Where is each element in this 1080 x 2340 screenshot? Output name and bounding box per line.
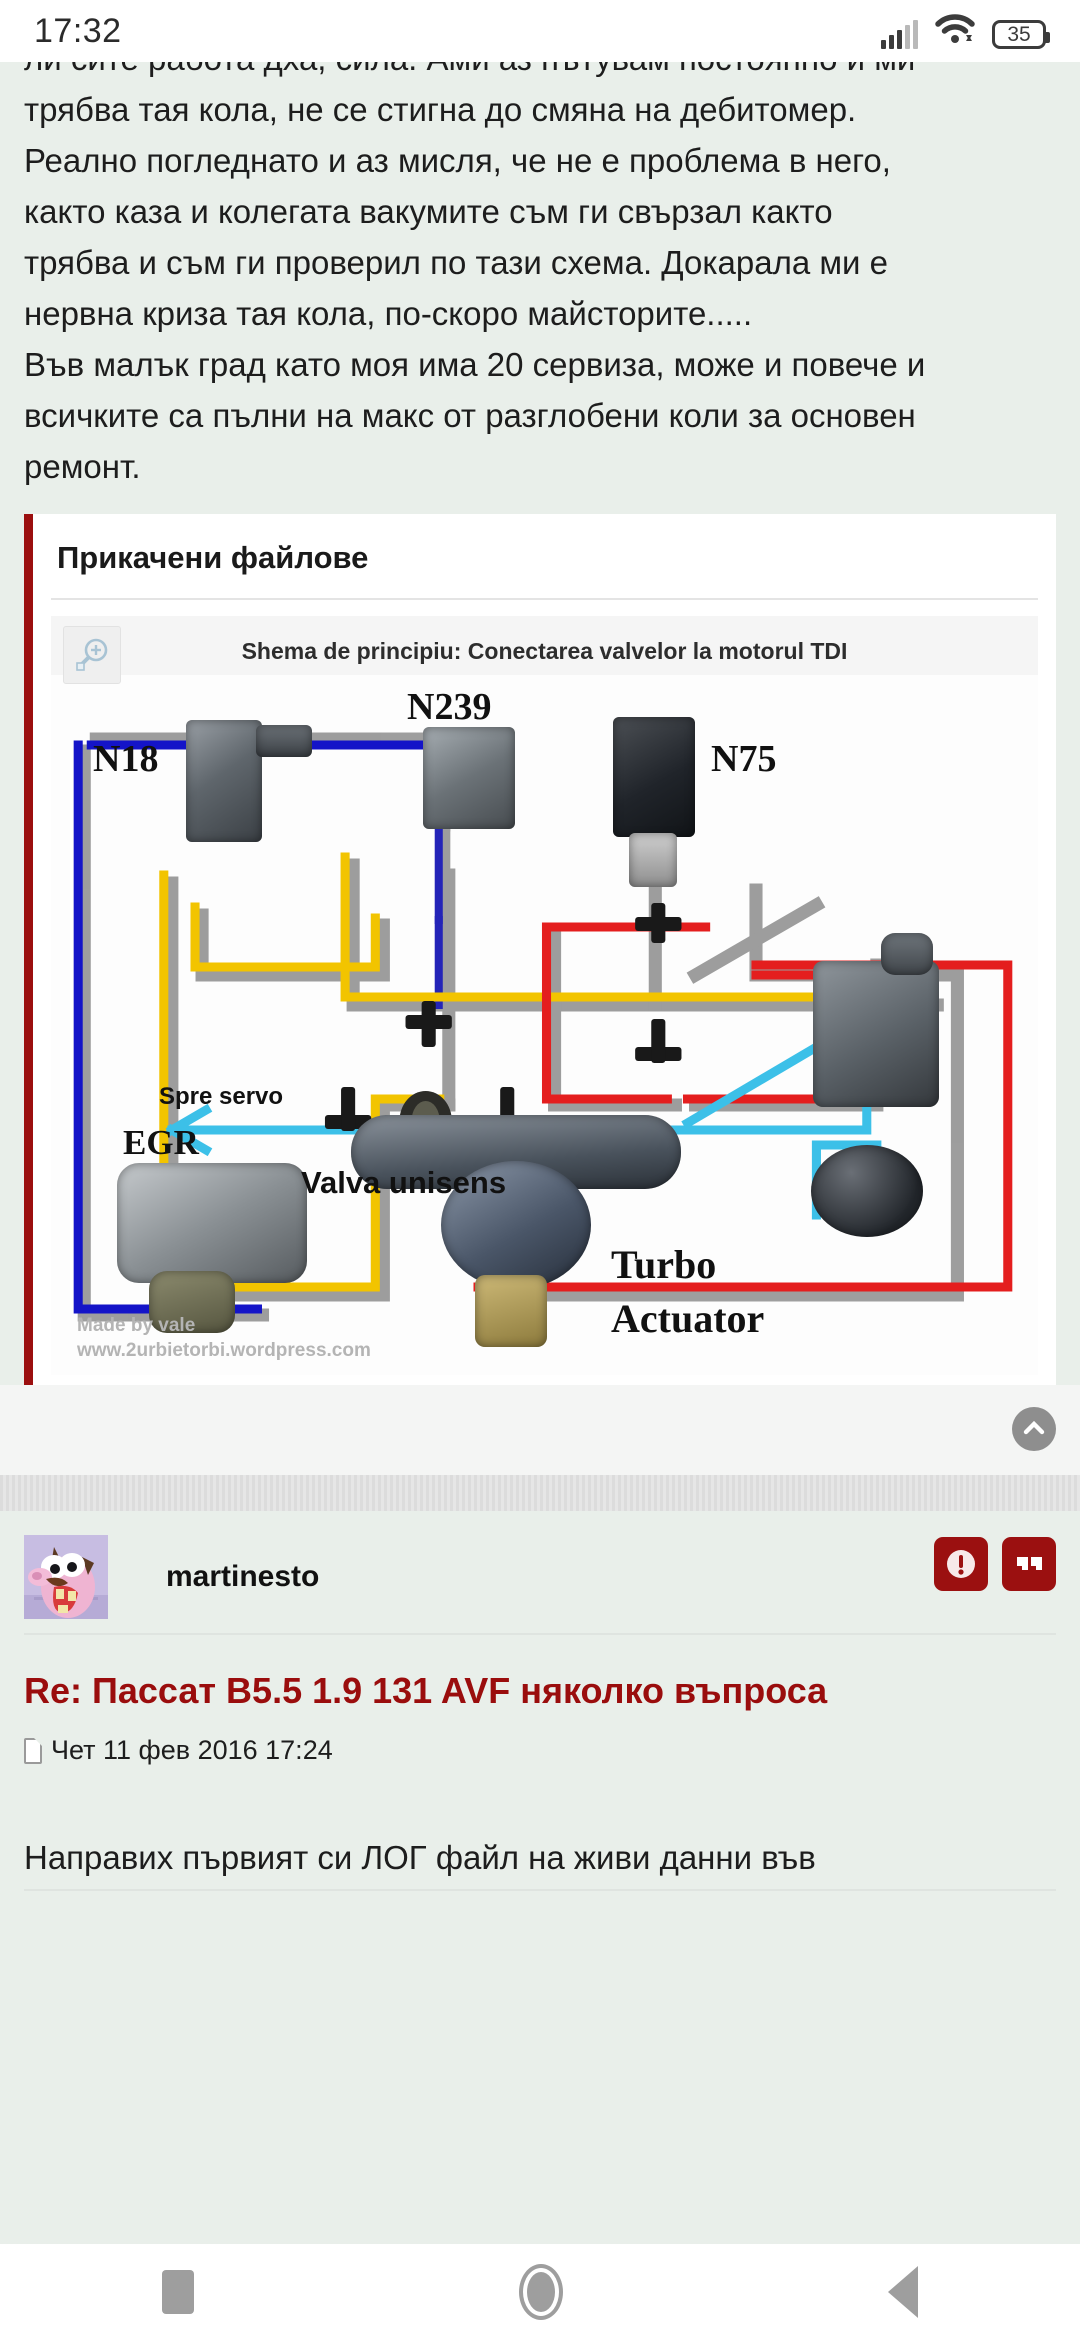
post-gap (0, 1385, 1080, 1475)
attachments-title: Прикачени файлове (33, 514, 1056, 598)
vacuum-hose-schematic[interactable]: N18 N239 N75 Spre servo Valva unisens EG… (51, 675, 1038, 1375)
label-n18: N18 (93, 737, 158, 781)
battery-level: 35 (1007, 24, 1030, 45)
part-vacuum-pump (813, 961, 939, 1107)
back-button[interactable] (888, 2266, 918, 2318)
post-line: трябва и съм ги проверил по тази схема. … (24, 237, 1056, 288)
chevron-up-icon (1021, 1416, 1047, 1442)
recents-button[interactable] (162, 2270, 194, 2314)
post-line: Реално погледнато и аз мисля, че не е пр… (24, 135, 1056, 186)
page-icon (24, 1738, 42, 1764)
divider (24, 1889, 1056, 1891)
attachment-caption: Shema de principiu: Conectarea valvelor … (51, 616, 1038, 675)
post-date-text: Чет 11 фев 2016 17:24 (51, 1735, 333, 1766)
report-post-button[interactable] (934, 1537, 988, 1591)
status-bar: 17:32 35 (0, 0, 1080, 62)
post-actions (934, 1537, 1056, 1591)
quote-icon (1012, 1547, 1046, 1581)
post-date: Чет 11 фев 2016 17:24 (24, 1713, 1056, 1766)
battery-icon: 35 (992, 20, 1046, 49)
post-line: трябва тая кола, не се стигна до смяна н… (24, 84, 1056, 135)
page-scroll-area[interactable]: ли сите работа дха, сила. Ами аз пътувам… (0, 62, 1080, 1891)
label-egr: EGR (123, 1123, 199, 1163)
part-vacuum-pump-inlet (881, 933, 933, 975)
part-n18-valve (186, 720, 262, 842)
post-line: ремонт. (24, 441, 1056, 492)
post-title[interactable]: Re: Пассат B5.5 1.9 131 AVF няколко въпр… (24, 1635, 1056, 1713)
label-n75: N75 (711, 737, 776, 781)
label-turbo: Turbo (611, 1241, 716, 1288)
part-turbo-actuator-can (475, 1275, 547, 1347)
post-line: както каза и колегата вакумите съм ги св… (24, 186, 1056, 237)
post-line: всичките са пълни на макс от разглобени … (24, 390, 1056, 441)
post-line-clipped: ли сите работа дха, сила. Ами аз пътувам… (24, 62, 915, 84)
part-n239-valve (423, 727, 515, 829)
post-line: нервна криза тая кола, по-скоро майстори… (24, 288, 1056, 339)
post-body: ли сите работа дха, сила. Ами аз пътувам… (0, 62, 1080, 492)
part-n18-connector (256, 725, 312, 757)
schematic-watermark: Made by vale www.2urbietorbi.wordpress.c… (77, 1313, 371, 1363)
status-bar-icons: 35 (881, 14, 1046, 49)
label-spre-servo: Spre servo (159, 1083, 283, 1111)
part-egr-valve (117, 1163, 307, 1283)
post-author-name[interactable]: martinesto (166, 1560, 319, 1594)
post: martinesto Re: Пассат B5.5 (0, 1511, 1080, 1891)
watermark-author: Made by vale (77, 1313, 371, 1338)
post-line: Във малък град като моя има 20 сервиза, … (24, 339, 1056, 390)
exclamation-circle-icon (944, 1547, 978, 1581)
label-actuator: Actuator (611, 1295, 764, 1342)
avatar[interactable] (24, 1535, 108, 1619)
post-text: Направих първият си ЛОГ файл на живи дан… (24, 1766, 1056, 1883)
wifi-icon (935, 14, 975, 49)
attachment-item[interactable]: Shema de principiu: Conectarea valvelor … (51, 616, 1038, 1375)
watermark-url: www.2urbietorbi.wordpress.com (77, 1338, 371, 1363)
quote-post-button[interactable] (1002, 1537, 1056, 1591)
scroll-to-top-button[interactable] (1012, 1407, 1056, 1451)
divider (51, 598, 1038, 600)
section-divider-hatch (0, 1475, 1080, 1511)
clipped-text-row: ли сите работа дха, сила. Ами аз пътувам… (24, 62, 1056, 84)
home-button[interactable] (519, 2264, 563, 2320)
magnifier-plus-icon[interactable] (63, 626, 121, 684)
part-n75-valve (613, 717, 695, 837)
post-header: martinesto (24, 1511, 1056, 1633)
part-n75-nipple (629, 833, 677, 887)
part-vacuum-reservoir (811, 1145, 923, 1237)
attachments-card: Прикачени файлове Shema de principiu: Co… (24, 514, 1056, 1385)
android-nav-bar (0, 2244, 1080, 2340)
label-valva-unisens: Valva unisens (301, 1165, 506, 1201)
signal-bars-icon (881, 21, 918, 49)
label-n239: N239 (407, 685, 491, 729)
status-bar-clock: 17:32 (34, 12, 122, 51)
